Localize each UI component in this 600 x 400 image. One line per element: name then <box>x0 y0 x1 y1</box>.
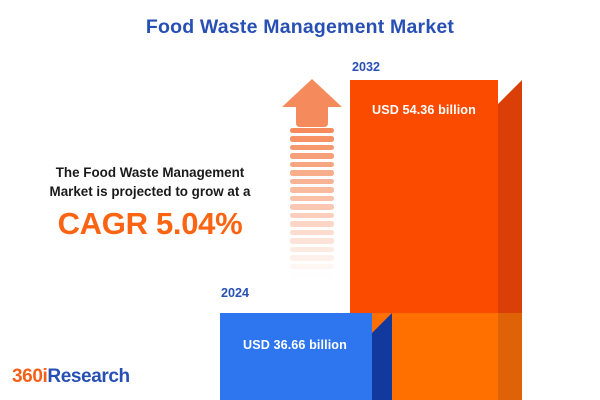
cagr-value: CAGR 5.04% <box>14 208 286 241</box>
bar-2024-value: USD 36.66 billion <box>243 338 347 352</box>
arrow-stripe <box>290 145 334 150</box>
bar-2024: USD 36.66 billion <box>220 313 392 400</box>
cagr-lead-line-1: The Food Waste Management <box>14 163 286 182</box>
arrow-stripe <box>290 196 334 201</box>
arrow-stripe <box>290 247 334 252</box>
brand-logo: 360iResearch <box>12 366 130 388</box>
arrow-stripe <box>290 170 334 175</box>
arrow-stripe <box>290 272 334 277</box>
arrow-stripe-stack <box>290 128 334 293</box>
arrow-stripe <box>290 128 334 133</box>
brand-logo-prefix: 360i <box>12 366 47 387</box>
arrow-up-icon <box>281 78 343 128</box>
bar-2032-side-upper <box>498 80 522 313</box>
cagr-callout: The Food Waste Management Market is proj… <box>14 163 286 240</box>
bar-2032-side-lower <box>498 313 522 400</box>
bar-label-2032: 2032 <box>352 60 380 74</box>
arrow-stripe <box>290 264 334 269</box>
arrow-stripe <box>290 179 334 184</box>
growth-arrow-graphic <box>281 78 343 293</box>
arrow-stripe <box>290 153 334 158</box>
arrow-stripe <box>290 213 334 218</box>
bar-label-2024: 2024 <box>221 286 249 300</box>
brand-logo-suffix: Research <box>47 366 129 387</box>
arrow-stripe <box>290 136 334 141</box>
cagr-lead-line-2: Market is projected to grow at a <box>14 182 286 201</box>
bar-2024-face <box>220 313 372 400</box>
arrow-stripe <box>290 187 334 192</box>
bar-2032-value: USD 54.36 billion <box>372 103 476 117</box>
arrow-stripe <box>290 162 334 167</box>
arrow-stripe <box>290 255 334 260</box>
arrow-stripe <box>290 221 334 226</box>
arrow-stripe <box>290 230 334 235</box>
infographic-canvas: Food Waste Management Market The Food Wa… <box>0 0 600 400</box>
page-title: Food Waste Management Market <box>0 16 600 39</box>
arrow-stripe <box>290 204 334 209</box>
arrow-stripe <box>290 238 334 243</box>
bar-2024-side <box>372 313 392 400</box>
